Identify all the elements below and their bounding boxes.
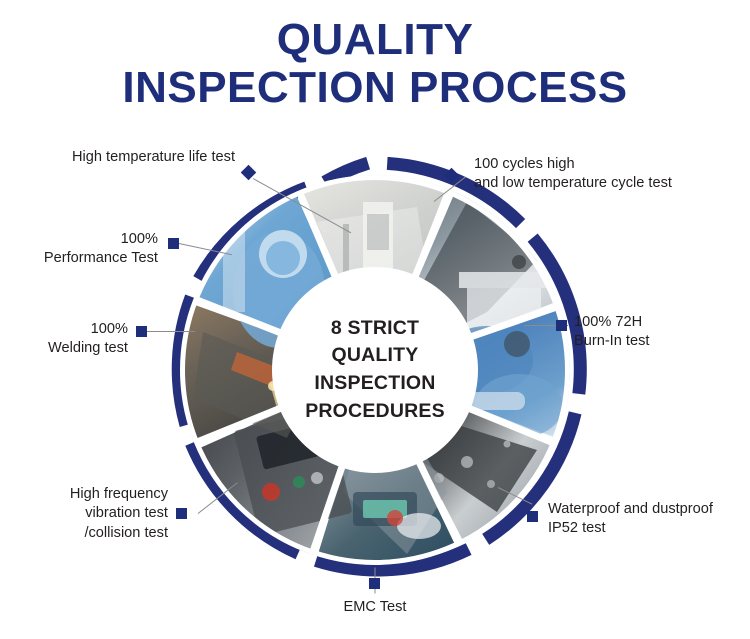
callout-waterproof-test: Waterproof and dustproof IP52 test bbox=[548, 500, 748, 539]
process-wheel bbox=[167, 162, 583, 578]
marker-vibration-test[interactable] bbox=[176, 508, 187, 519]
page-title: QUALITY INSPECTION PROCESS bbox=[0, 16, 750, 111]
callout-burn-in-test: 100% 72H Burn-In test bbox=[574, 313, 744, 352]
inner-photo-edge bbox=[275, 270, 475, 470]
marker-welding-test[interactable] bbox=[136, 326, 147, 337]
marker-burn-in-test[interactable] bbox=[556, 320, 567, 331]
leader-welding-test bbox=[147, 331, 195, 332]
callout-performance-test: 100% Performance Test bbox=[0, 230, 158, 269]
callout-welding-test: 100% Welding test bbox=[0, 320, 128, 359]
callout-vibration-test: High frequency vibration test /collision… bbox=[10, 485, 168, 543]
marker-performance-test[interactable] bbox=[168, 238, 179, 249]
callout-high-temperature-life-test: High temperature life test bbox=[30, 148, 235, 167]
callout-emc-test: EMC Test bbox=[305, 598, 445, 617]
title-line-2: INSPECTION PROCESS bbox=[0, 64, 750, 112]
title-line-1: QUALITY bbox=[0, 16, 750, 64]
marker-waterproof-test[interactable] bbox=[527, 511, 538, 522]
marker-emc-test[interactable] bbox=[369, 578, 380, 589]
callout-hundred-cycles-test: 100 cycles high and low temperature cycl… bbox=[474, 155, 724, 194]
infographic-page: QUALITY INSPECTION PROCESS bbox=[0, 0, 750, 639]
